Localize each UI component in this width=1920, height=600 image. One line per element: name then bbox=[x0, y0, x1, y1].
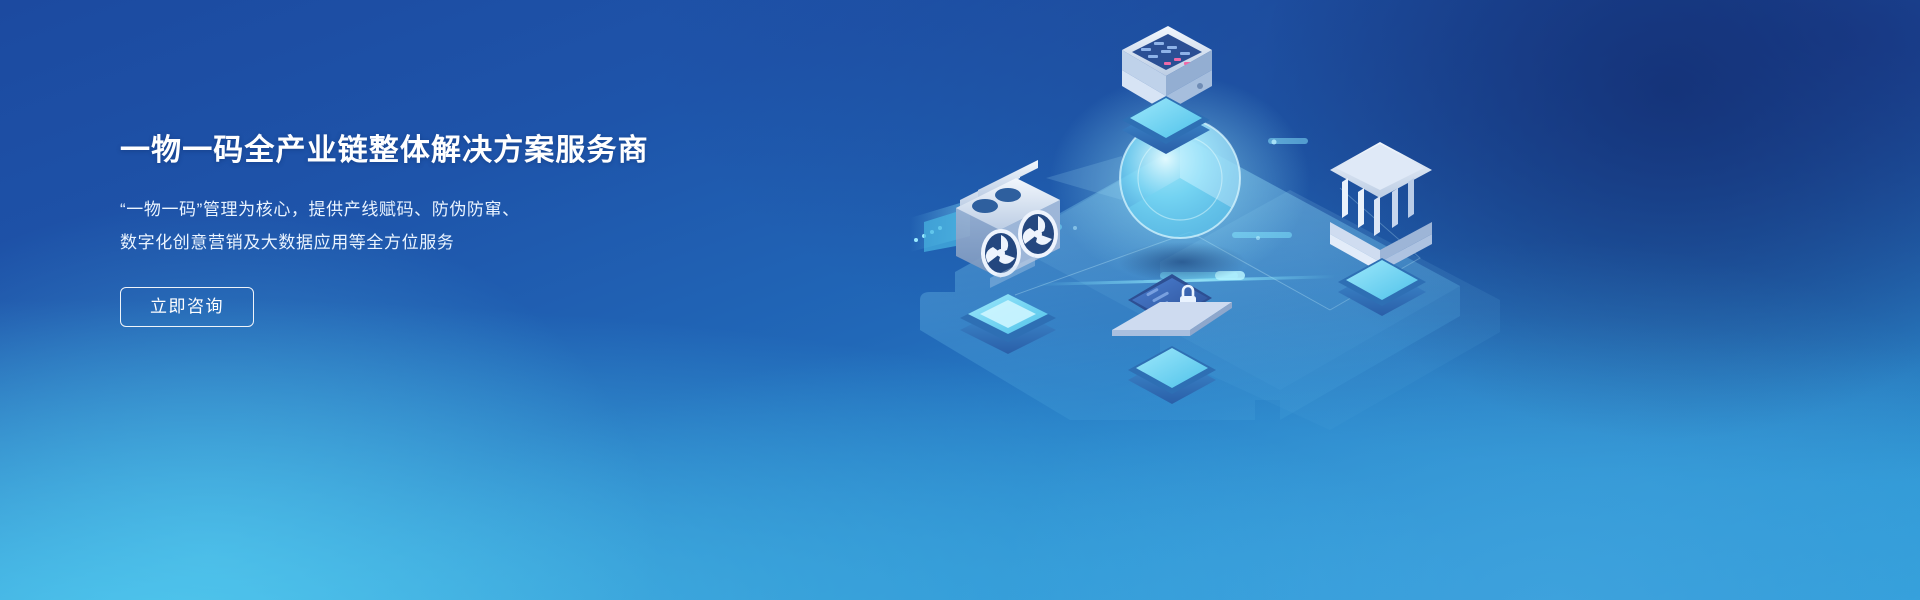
hero-copy-block: 一物一码全产业链整体解决方案服务商 “一物一码”管理为核心，提供产线赋码、防伪防… bbox=[120, 131, 880, 327]
consult-now-button[interactable]: 立即咨询 bbox=[120, 287, 254, 327]
isometric-iot-network-illustration bbox=[860, 0, 1560, 600]
hero-subtitle: “一物一码”管理为核心，提供产线赋码、防伪防窜、 数字化创意营销及大数据应用等全… bbox=[120, 193, 880, 259]
page-title: 一物一码全产业链整体解决方案服务商 bbox=[120, 131, 880, 171]
pos-terminal-icon bbox=[1122, 26, 1212, 154]
hero-subtitle-line-1: “一物一码”管理为核心，提供产线赋码、防伪防窜、 bbox=[120, 193, 880, 226]
hero-subtitle-line-2: 数字化创意营销及大数据应用等全方位服务 bbox=[120, 226, 880, 259]
hero-banner: 一物一码全产业链整体解决方案服务商 “一物一码”管理为核心，提供产线赋码、防伪防… bbox=[0, 0, 1920, 600]
